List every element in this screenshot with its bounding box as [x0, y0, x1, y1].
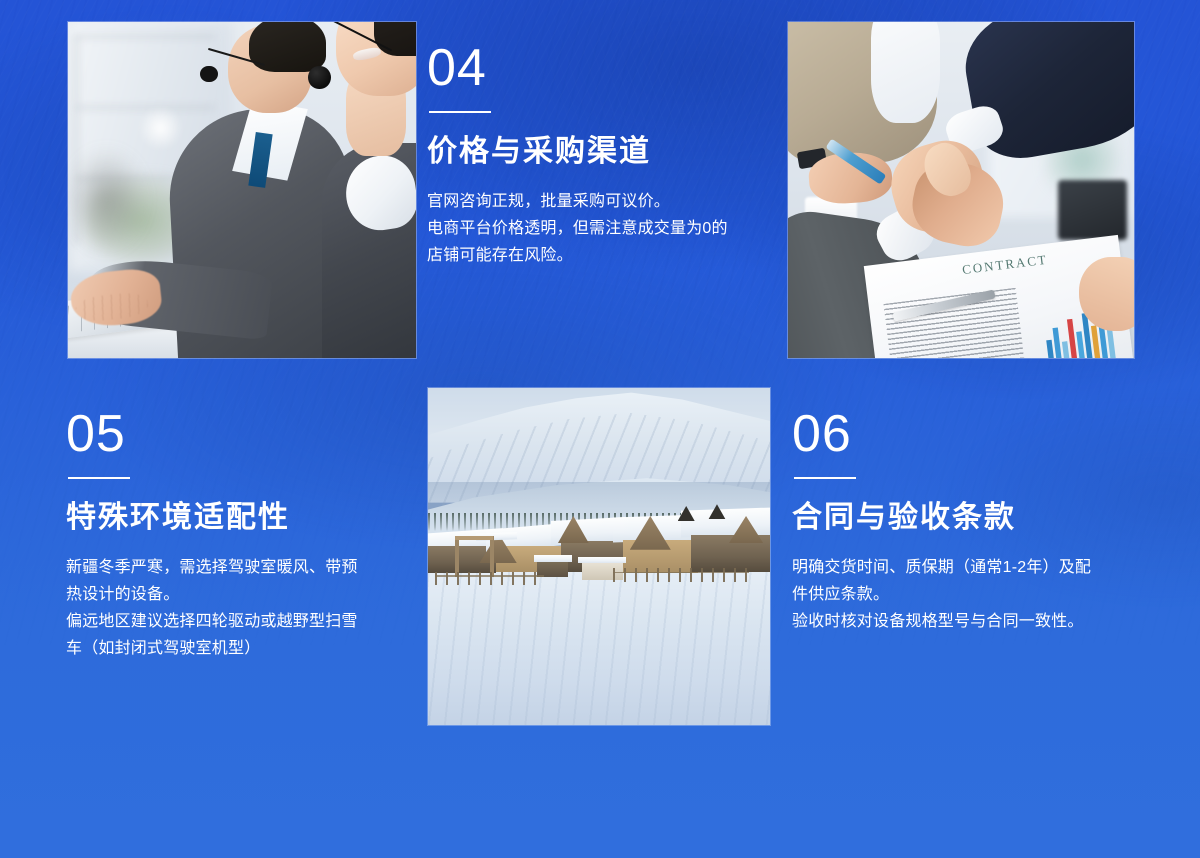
snow-village-scene [428, 388, 770, 725]
section-heading-06: 合同与验收条款 [792, 499, 1137, 537]
section-number-04: 04 [427, 42, 772, 94]
snow-fence-rail-left [435, 575, 544, 577]
body-line: 明确交货时间、质保期（通常1-2年）及配 [792, 554, 1137, 581]
body-line: 官网咨询正规，批量采购可议价。 [427, 188, 772, 215]
section-rule-06 [794, 477, 856, 479]
front-agent-microphone [308, 66, 331, 90]
small-shed-1-snow [534, 555, 572, 562]
snow-fence-right [613, 568, 750, 581]
section-04: 04 价格与采购渠道 官网咨询正规，批量采购可议价。 电商平台价格透明，但需注意… [427, 42, 772, 269]
body-line: 验收时核对设备规格型号与合同一致性。 [792, 608, 1137, 635]
infographic-poster: CONTRACT [0, 0, 1200, 858]
body-line: 件供应条款。 [792, 581, 1137, 608]
section-body-05: 新疆冬季严寒，需选择驾驶室暖风、带预 热设计的设备。 偏远地区建议选择四轮驱动或… [66, 554, 416, 662]
section-rule-04 [429, 111, 491, 113]
small-shed-2-snow [578, 557, 626, 564]
body-line: 偏远地区建议选择四轮驱动或越野型扫雪 [66, 608, 416, 635]
window-light-bokeh [138, 106, 183, 150]
body-line: 电商平台价格透明，但需注意成交量为0的 [427, 215, 772, 242]
body-line: 热设计的设备。 [66, 581, 416, 608]
beige-person-shirt [871, 22, 940, 123]
section-06: 06 合同与验收条款 明确交货时间、质保期（通常1-2年）及配 件供应条款。 验… [792, 408, 1137, 635]
snow-fence-left [435, 572, 544, 585]
section-heading-05: 特殊环境适配性 [66, 499, 416, 537]
body-line: 新疆冬季严寒，需选择驾驶室暖风、带预 [66, 554, 416, 581]
snow-field-foreground [428, 570, 770, 725]
office-shelf-blur [68, 150, 145, 251]
section-body-04: 官网咨询正规，批量采购可议价。 电商平台价格透明，但需注意成交量为0的 店铺可能… [427, 188, 772, 269]
section-heading-04: 价格与采购渠道 [427, 133, 772, 171]
timber-post-2 [490, 536, 494, 576]
back-agent-microphone [200, 66, 217, 83]
body-line: 车（如封闭式驾驶室机型） [66, 635, 416, 662]
section-05: 05 特殊环境适配性 新疆冬季严寒，需选择驾驶室暖风、带预 热设计的设备。 偏远… [66, 408, 416, 662]
snow-village-photo [428, 388, 770, 725]
timber-beam [455, 536, 493, 540]
section-rule-05 [68, 477, 130, 479]
timber-post-1 [455, 536, 459, 576]
callcenter-scene [68, 22, 416, 358]
snow-fence-rail-right [613, 572, 750, 574]
contract-handshake-photo: CONTRACT [788, 22, 1134, 358]
contract-title-text: CONTRACT [961, 252, 1048, 278]
customer-service-agents-photo [68, 22, 416, 358]
meeting-room-monitor [1058, 180, 1127, 240]
handshake-scene: CONTRACT [788, 22, 1134, 358]
body-line: 店铺可能存在风险。 [427, 242, 772, 269]
section-number-06: 06 [792, 408, 1137, 460]
section-number-05: 05 [66, 408, 416, 460]
section-body-06: 明确交货时间、质保期（通常1-2年）及配 件供应条款。 验收时核对设备规格型号与… [792, 554, 1137, 635]
